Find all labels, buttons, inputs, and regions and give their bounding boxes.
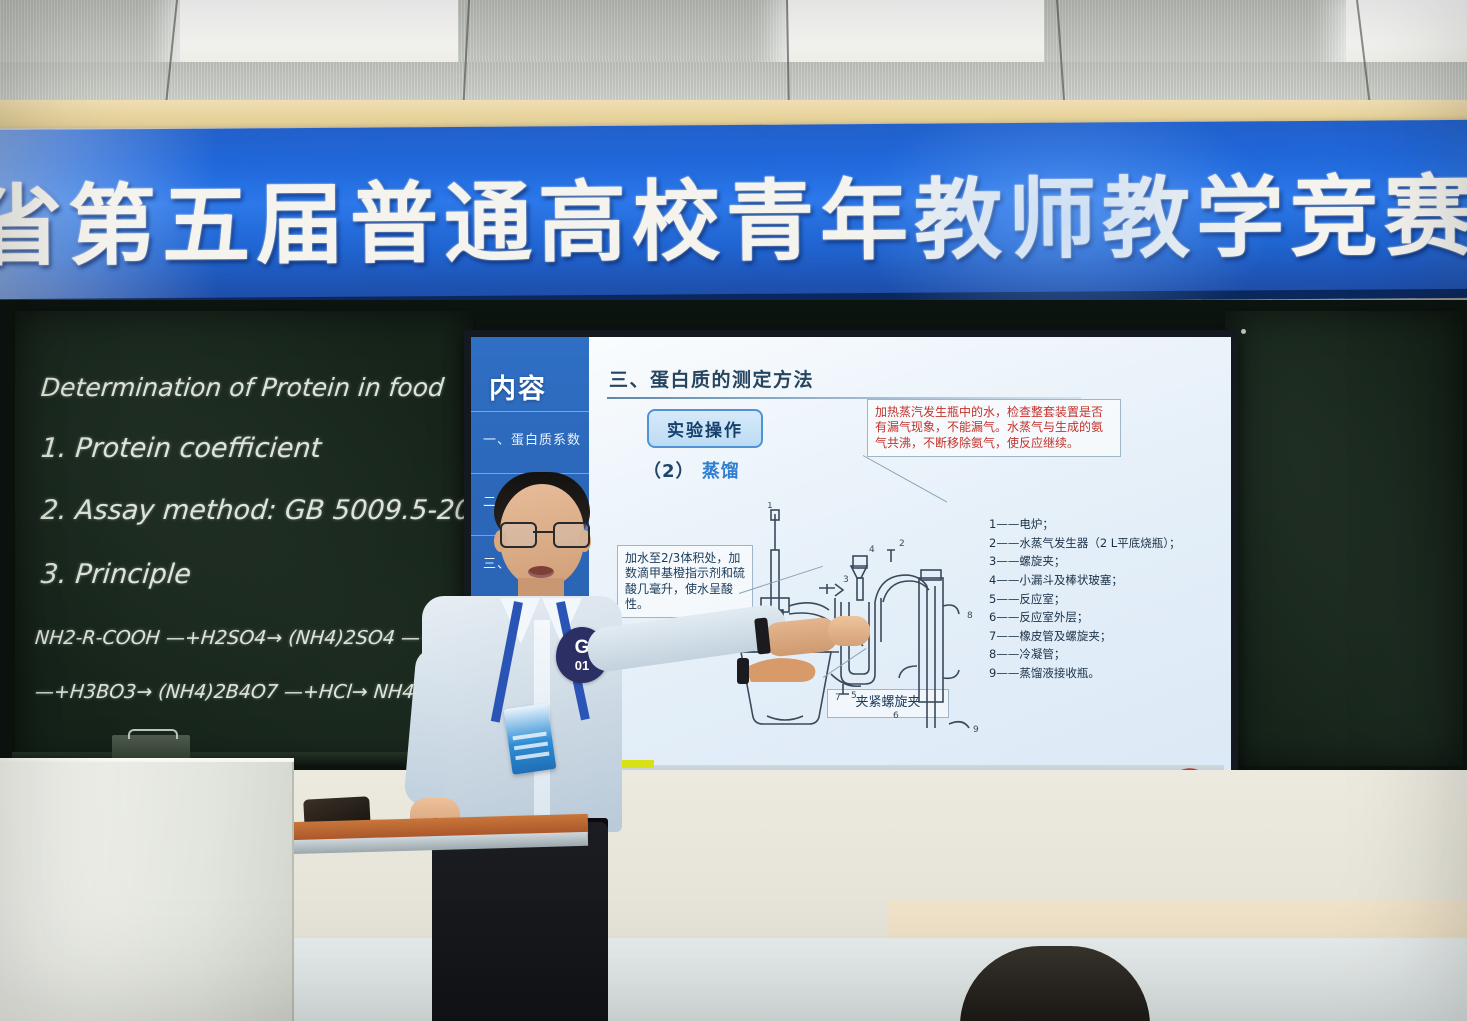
sidebar-title: 内容 (489, 367, 547, 406)
legend-item-4: 4——小漏斗及棒状玻塞； (989, 571, 1180, 590)
presenter-pointing-hand (828, 616, 870, 646)
legend-item-8: 8——冷凝管； (989, 645, 1180, 664)
svg-text:9: 9 (973, 725, 979, 735)
legend-item-1: 1——电炉； (989, 515, 1180, 534)
svg-text:8: 8 (967, 611, 973, 621)
badge-number: 01 (575, 659, 589, 672)
presenter-mouth (528, 566, 554, 578)
svg-text:6: 6 (893, 711, 899, 721)
svg-text:2: 2 (899, 539, 905, 549)
svg-text:1: 1 (767, 502, 773, 511)
podium: 2021 (0, 762, 294, 1021)
svg-text:7: 7 (835, 693, 841, 703)
event-banner: 省第五届普通高校青年教师教学竞赛 (0, 120, 1467, 308)
slide-section-pill: 实验操作 (647, 409, 763, 448)
id-badge-card (504, 703, 557, 774)
right-wall-upper (888, 900, 1467, 940)
blackboard-right (1222, 308, 1466, 769)
legend-item-9: 9——蒸馏液接收瓶。 (989, 664, 1180, 683)
chalk-line-1: 1. Protein coefficient (40, 433, 323, 464)
svg-text:4: 4 (869, 545, 875, 555)
banner-title: 省第五届普通高校青年教师教学竞赛 (0, 146, 1467, 283)
glasses-icon (500, 522, 586, 544)
sidebar-item-1[interactable]: 一、蛋白质系数 (483, 429, 585, 448)
presenter: G 01 (404, 470, 634, 1021)
presenter-trousers (432, 822, 608, 1021)
classroom-scene: 省第五届普通高校青年教师教学竞赛 Determination of Protei… (0, 0, 1467, 1021)
slide-step: （2） 蒸馏 (643, 457, 740, 483)
chalk-heading: Determination of Protein in food (40, 373, 446, 402)
legend-item-7: 7——橡皮管及螺旋夹； (989, 627, 1180, 646)
slide-heading: 三、蛋白质的测定方法 (609, 365, 814, 392)
chalk-equation-2: —+H3BO3→ (NH4)2B4O7 —+HCl→ NH4Cl (34, 681, 434, 703)
legend-item-3: 3——螺旋夹； (989, 552, 1180, 571)
note-red: 加热蒸汽发生瓶中的水，检查整套装置是否有漏气现象，不能漏气。水蒸气与生成的氨气共… (867, 399, 1121, 457)
step-number: （2） (643, 461, 695, 482)
step-label: 蒸馏 (702, 461, 740, 482)
legend-item-6: 6——反应室外层； (989, 608, 1180, 627)
chalk-line-3: 3. Principle (40, 559, 193, 590)
apparatus-legend: 1——电炉； 2——水蒸气发生器（2 L平底烧瓶）； 3——螺旋夹； 4——小漏… (989, 515, 1180, 683)
legend-item-2: 2——水蒸气发生器（2 L平底烧瓶）； (989, 534, 1180, 553)
svg-text:5: 5 (851, 691, 857, 701)
legend-item-5: 5——反应室； (989, 590, 1180, 609)
svg-text:3: 3 (843, 575, 849, 585)
